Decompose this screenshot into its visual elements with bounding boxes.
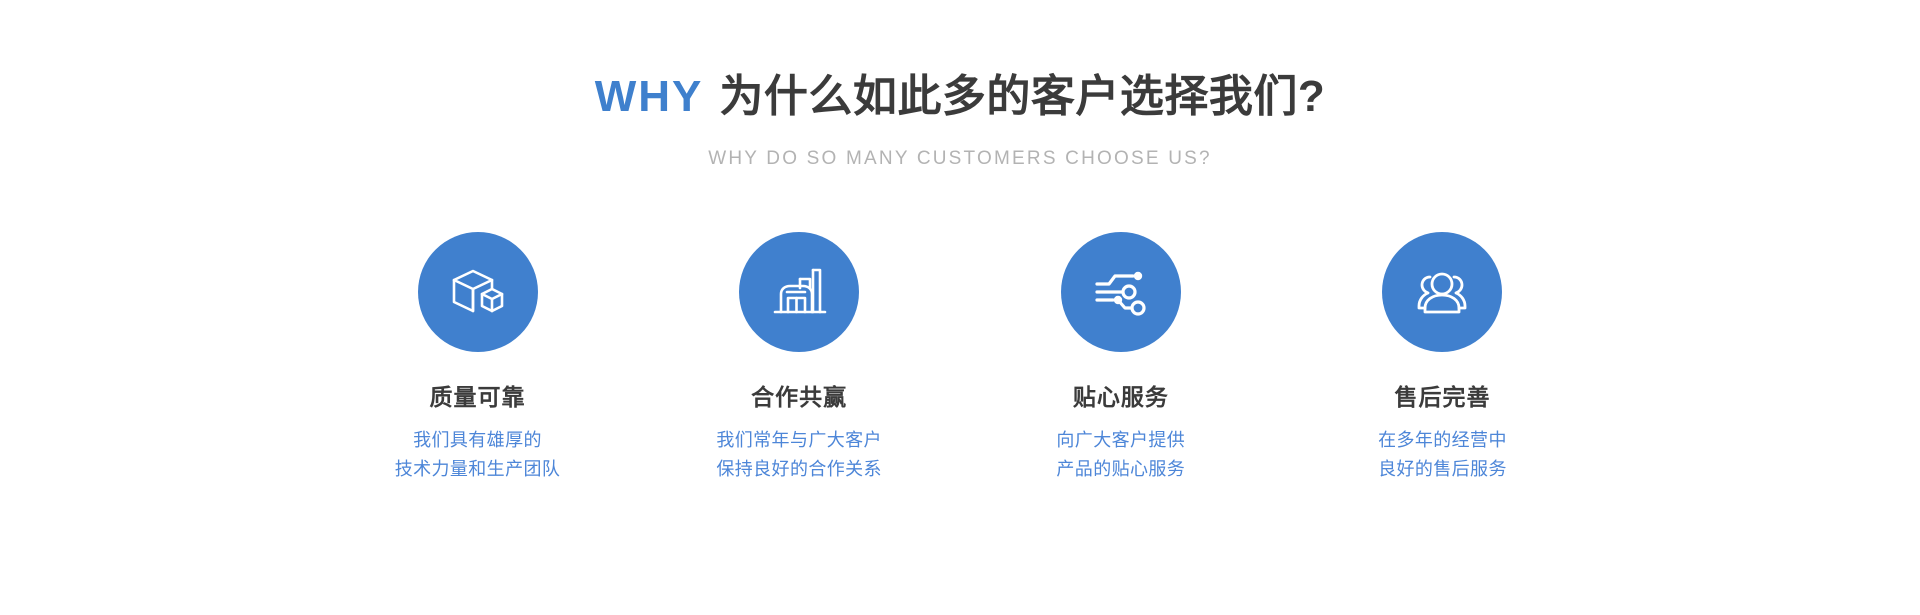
circuit-nodes-icon xyxy=(1089,260,1153,324)
card-desc-line2: 保持良好的合作关系 xyxy=(716,455,882,484)
heading-block: WHY为什么如此多的客户选择我们? WHY DO SO MANY CUSTOME… xyxy=(0,68,1920,172)
card-desc-line2: 良好的售后服务 xyxy=(1378,455,1507,484)
card-description: 我们常年与广大客户 保持良好的合作关系 xyxy=(716,426,882,484)
feature-card-cooperation[interactable]: 合作共赢 我们常年与广大客户 保持良好的合作关系 xyxy=(679,232,919,484)
icon-circle-quality xyxy=(418,232,538,352)
card-desc-line1: 我们常年与广大客户 xyxy=(716,426,882,455)
page-subtitle: WHY DO SO MANY CUSTOMERS CHOOSE US? xyxy=(0,146,1920,172)
package-box-icon xyxy=(446,260,510,324)
title-prefix-why: WHY xyxy=(595,72,704,121)
feature-card-service[interactable]: 贴心服务 向广大客户提供 产品的贴心服务 xyxy=(1001,232,1241,484)
card-desc-line1: 在多年的经营中 xyxy=(1378,426,1507,455)
why-choose-us-section: WHY为什么如此多的客户选择我们? WHY DO SO MANY CUSTOME… xyxy=(0,0,1920,615)
card-desc-line1: 我们具有雄厚的 xyxy=(395,426,561,455)
icon-circle-service xyxy=(1061,232,1181,352)
card-desc-line2: 技术力量和生产团队 xyxy=(395,455,561,484)
card-title: 质量可靠 xyxy=(430,382,526,412)
card-description: 我们具有雄厚的 技术力量和生产团队 xyxy=(395,426,561,484)
card-desc-line2: 产品的贴心服务 xyxy=(1056,455,1185,484)
card-description: 在多年的经营中 良好的售后服务 xyxy=(1378,426,1507,484)
card-description: 向广大客户提供 产品的贴心服务 xyxy=(1056,426,1185,484)
card-title: 售后完善 xyxy=(1394,382,1490,412)
title-text: 为什么如此多的客户选择我们? xyxy=(719,72,1325,121)
icon-circle-cooperation xyxy=(739,232,859,352)
card-title: 贴心服务 xyxy=(1073,382,1169,412)
feature-card-aftersales[interactable]: 售后完善 在多年的经营中 良好的售后服务 xyxy=(1322,232,1562,484)
card-title: 合作共赢 xyxy=(751,382,847,412)
feature-cards-row: 质量可靠 我们具有雄厚的 技术力量和生产团队 xyxy=(358,232,1563,484)
icon-circle-aftersales xyxy=(1382,232,1502,352)
feature-card-quality[interactable]: 质量可靠 我们具有雄厚的 技术力量和生产团队 xyxy=(358,232,598,484)
page-title: WHY为什么如此多的客户选择我们? xyxy=(0,68,1920,126)
card-desc-line1: 向广大客户提供 xyxy=(1056,426,1185,455)
users-group-icon xyxy=(1410,260,1474,324)
factory-icon xyxy=(767,260,831,324)
